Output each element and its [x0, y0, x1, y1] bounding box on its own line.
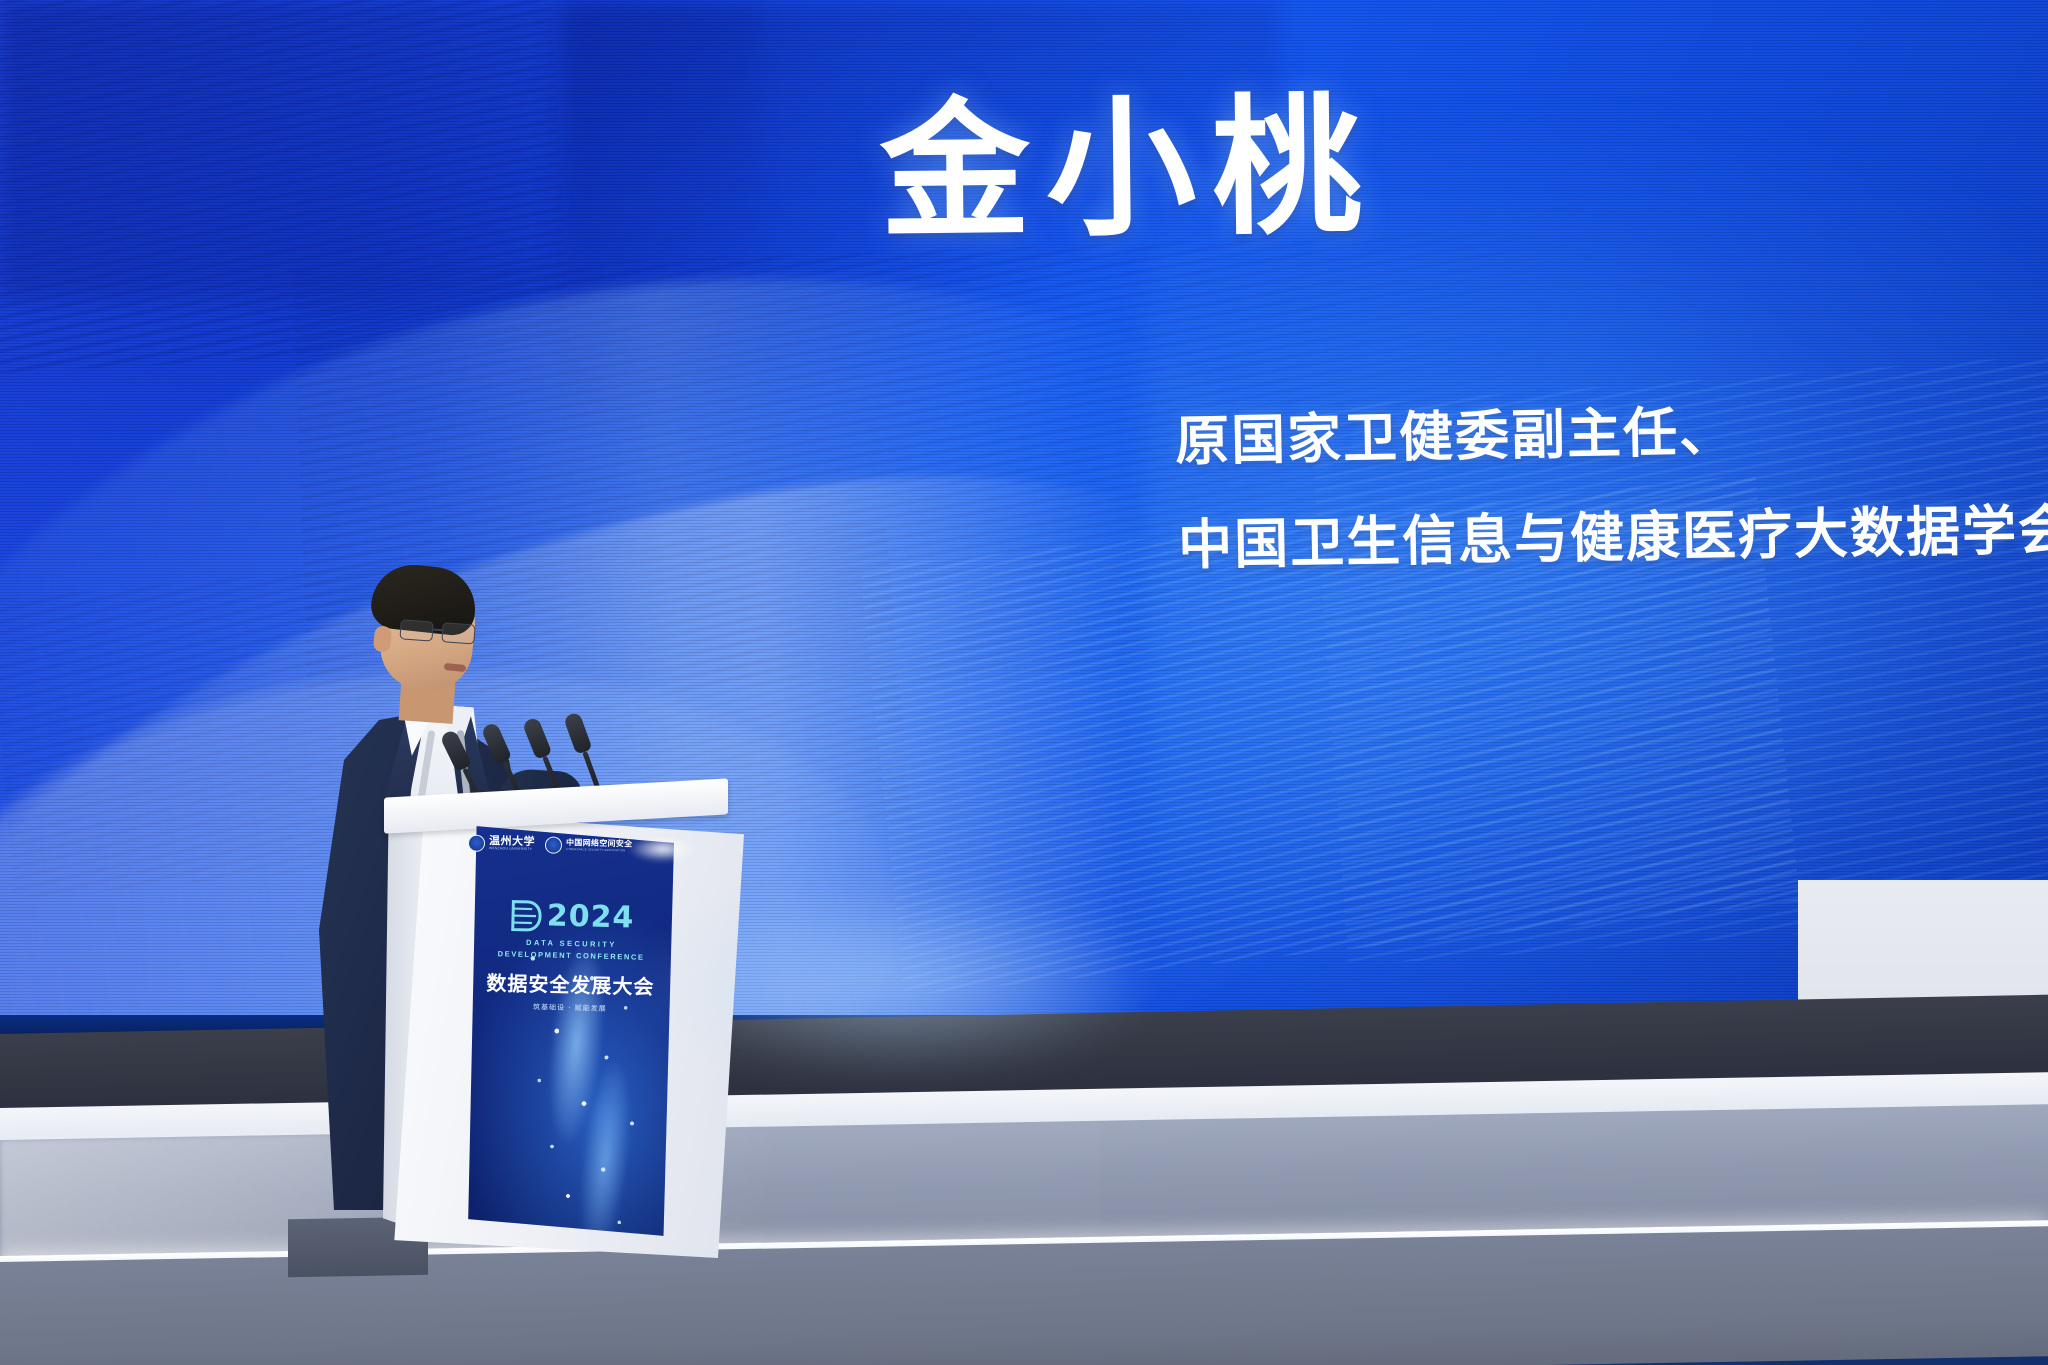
logo-wenzhou-university: 温州大学 WENZHOU UNIVERSITY [468, 834, 535, 853]
conference-en-line-2: DEVELOPMENT CONFERENCE [476, 949, 666, 963]
microphone-head [563, 711, 593, 754]
speaker-name: 金小桃 [879, 92, 1379, 247]
eyeglasses-lens-left [399, 619, 433, 641]
podium-specular-glint [628, 836, 698, 862]
conference-en-line-1: DATA SECURITY [476, 937, 666, 951]
conference-stage-photo: 金小桃 原国家卫健委副主任、 中国卫生信息与健康医疗大数据学会会长 [0, 0, 2048, 1365]
university-seal-icon [468, 834, 485, 851]
podium-front-panel [464, 822, 674, 1240]
conference-cn-subtitle: 筑基础设 · 赋能发展 [475, 1001, 665, 1016]
podium: 温州大学 WENZHOU UNIVERSITY 中国网络空间安全 CYBERSP… [372, 752, 742, 1262]
association-seal-icon [545, 836, 562, 853]
logo-label-en: WENZHOU UNIVERSITY [489, 847, 535, 852]
speaker-title-line-2: 中国卫生信息与健康医疗大数据学会会长 [1177, 483, 2048, 580]
logo-cyberspace-security: 中国网络空间安全 CYBERSPACE SECURITY ASSOCIATION [545, 836, 633, 855]
conference-emblem: 2024 DATA SECURITY DEVELOPMENT CONFERENC… [475, 898, 668, 1023]
conference-cn-title: 数据安全发展大会 [475, 967, 666, 1001]
speaker-title-line-1: 原国家卫健委副主任、 [1174, 387, 1735, 476]
conference-year: 2024 [546, 901, 634, 933]
logo-label-en: CYBERSPACE SECURITY ASSOCIATION [566, 848, 632, 852]
eyeglasses-lens-right [441, 622, 475, 644]
data-d-monogram-icon [509, 898, 542, 933]
screen-text-layer: 金小桃 原国家卫健委副主任、 中国卫生信息与健康医疗大数据学会会长 [0, 0, 2048, 1040]
